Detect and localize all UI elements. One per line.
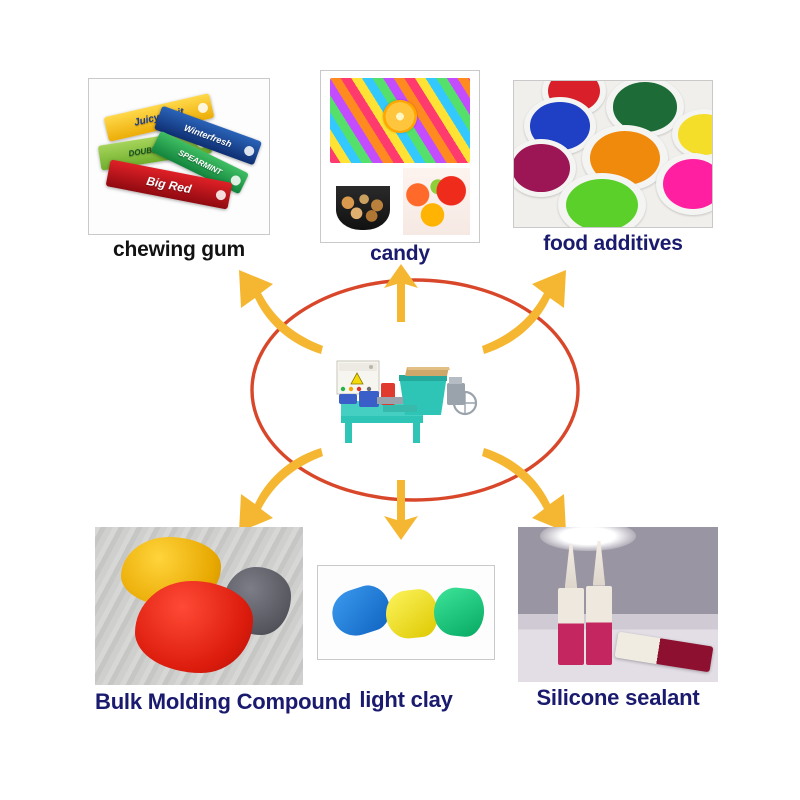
card-chewing-gum: Juicy Fruit DOUBLEMINT Winterfresh SPEAR…	[88, 78, 270, 263]
photo-chewing-gum: Juicy Fruit DOUBLEMINT Winterfresh SPEAR…	[88, 78, 270, 235]
dish	[656, 153, 713, 215]
candy-bowl-image	[330, 168, 395, 235]
gum-badge-icon	[215, 189, 227, 201]
dough-red	[135, 581, 253, 673]
card-silicone-sealant: Silicone sealant	[518, 527, 718, 732]
photo-candy	[320, 70, 480, 243]
candy-jellies-image	[403, 168, 469, 235]
gum-badge-icon	[243, 144, 256, 157]
food-additives-illustration	[514, 81, 712, 227]
arrow-top-right	[470, 262, 580, 362]
arrow-top-left	[225, 262, 335, 362]
caption-bulk-molding-compound: Bulk Molding Compound	[95, 689, 303, 715]
photo-bulk-molding-compound	[95, 527, 303, 685]
gum-badge-icon	[197, 101, 209, 113]
caption-light-clay: light clay	[317, 687, 495, 713]
caption-silicone-sealant: Silicone sealant	[518, 685, 718, 711]
arrow-top-center	[378, 262, 424, 324]
arrow-bottom-right	[470, 440, 580, 540]
caption-chewing-gum: chewing gum	[88, 238, 270, 262]
application-diagram: Juicy Fruit DOUBLEMINT Winterfresh SPEAR…	[0, 0, 800, 800]
candy-lollipops-image	[330, 78, 469, 164]
sealant-tube-right	[586, 541, 612, 665]
card-bulk-molding-compound: Bulk Molding Compound	[95, 527, 303, 732]
photo-food-additives	[513, 80, 713, 228]
photo-light-clay	[317, 565, 495, 660]
sealant-tube-left	[558, 545, 584, 665]
arrow-bottom-left	[225, 440, 335, 540]
arrow-bottom-center	[378, 478, 424, 542]
dish	[558, 173, 646, 228]
card-light-clay: light clay	[317, 565, 495, 725]
chewing-gum-illustration: Juicy Fruit DOUBLEMINT Winterfresh SPEAR…	[89, 79, 269, 234]
card-food-additives: food additives	[513, 80, 713, 265]
card-candy: candy	[320, 70, 480, 260]
caption-food-additives: food additives	[513, 232, 713, 256]
photo-silicone-sealant	[518, 527, 718, 682]
